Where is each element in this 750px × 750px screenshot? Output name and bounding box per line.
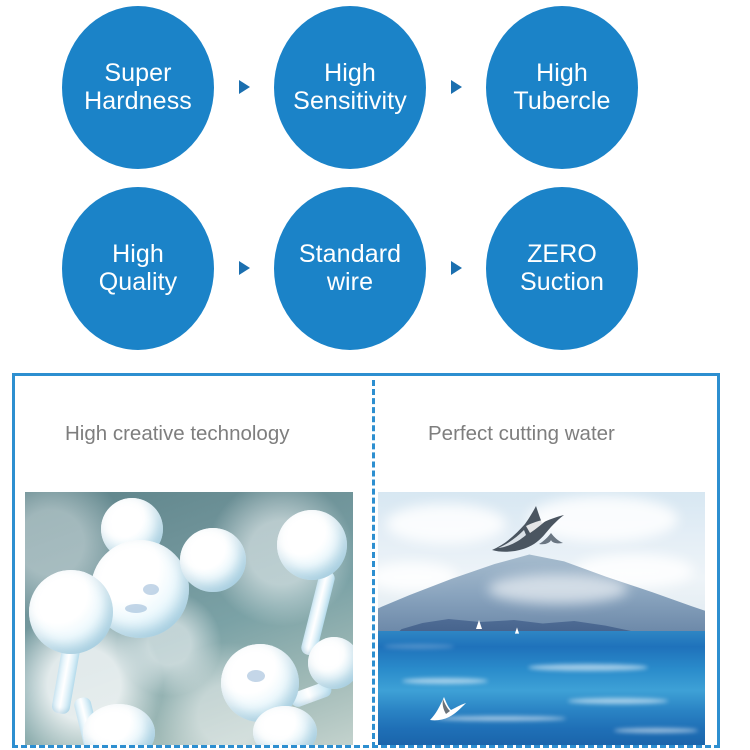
triangle-right-icon (239, 80, 250, 94)
feature-bubble-super-hardness[interactable]: Super Hardness (62, 6, 214, 169)
feature-bubble-high-sensitivity[interactable]: High Sensitivity (274, 6, 426, 169)
feature-row-2: High Quality Standard wire ZERO Suction (0, 183, 750, 353)
molecule-structure-photo (25, 492, 353, 745)
showcase-column-left: High creative technology (15, 376, 371, 745)
water-ripple (384, 644, 454, 649)
bubble-line-1: Super (104, 59, 171, 88)
bubble-line-2: wire (327, 268, 373, 297)
molecule-speck (125, 604, 147, 613)
seascape-photo (378, 492, 705, 745)
molecule-speck (143, 584, 159, 595)
triangle-right-icon (451, 80, 462, 94)
feature-bubble-high-quality[interactable]: High Quality (62, 187, 214, 350)
bubble-line-1: High (112, 240, 164, 269)
molecule-sphere (180, 528, 246, 592)
bubble-line-2: Suction (520, 268, 604, 297)
showcase-panel-inner: High creative technology (15, 376, 717, 745)
sailboat (515, 627, 519, 633)
feature-bubbles-section: Super Hardness High Sensitivity High Tub… (0, 0, 750, 366)
molecule-speck (247, 670, 265, 682)
water-ripple (614, 728, 698, 733)
sailboat (476, 620, 482, 629)
triangle-right-icon (451, 261, 462, 275)
feature-row-1: Super Hardness High Sensitivity High Tub… (0, 2, 750, 172)
water-ripple (568, 698, 668, 704)
triangle-right-icon (239, 261, 250, 275)
water-ripple (528, 664, 648, 671)
showcase-panel: High creative technology (12, 373, 720, 748)
cloud (488, 574, 628, 604)
feature-bubble-standard-wire[interactable]: Standard wire (274, 187, 426, 350)
caption-perfect-cutting-water: Perfect cutting water (378, 376, 717, 492)
arrow-gap-3 (214, 261, 274, 275)
bubble-line-2: Hardness (84, 87, 192, 116)
seagull-icon (490, 504, 570, 556)
water-ripple (402, 678, 488, 684)
molecule-sphere (308, 637, 353, 689)
bubble-line-2: Tubercle (513, 87, 610, 116)
bubble-line-1: High (536, 59, 588, 88)
bubble-line-2: Sensitivity (293, 87, 407, 116)
bubble-line-1: Standard (299, 240, 401, 269)
molecule-sphere (29, 570, 113, 654)
bubble-line-2: Quality (99, 268, 178, 297)
arrow-gap-2 (426, 80, 486, 94)
feature-bubble-high-tubercle[interactable]: High Tubercle (486, 6, 638, 169)
arrow-gap-4 (426, 261, 486, 275)
feature-bubble-zero-suction[interactable]: ZERO Suction (486, 187, 638, 350)
seagull-icon (538, 532, 564, 548)
molecule-sphere (277, 510, 347, 580)
bubble-line-1: High (324, 59, 376, 88)
showcase-column-right: Perfect cutting water (371, 376, 717, 745)
caption-high-creative-technology: High creative technology (24, 376, 371, 492)
bubble-line-1: ZERO (527, 240, 597, 269)
cloud (386, 504, 506, 544)
arrow-gap-1 (214, 80, 274, 94)
seagull-icon (428, 692, 468, 722)
